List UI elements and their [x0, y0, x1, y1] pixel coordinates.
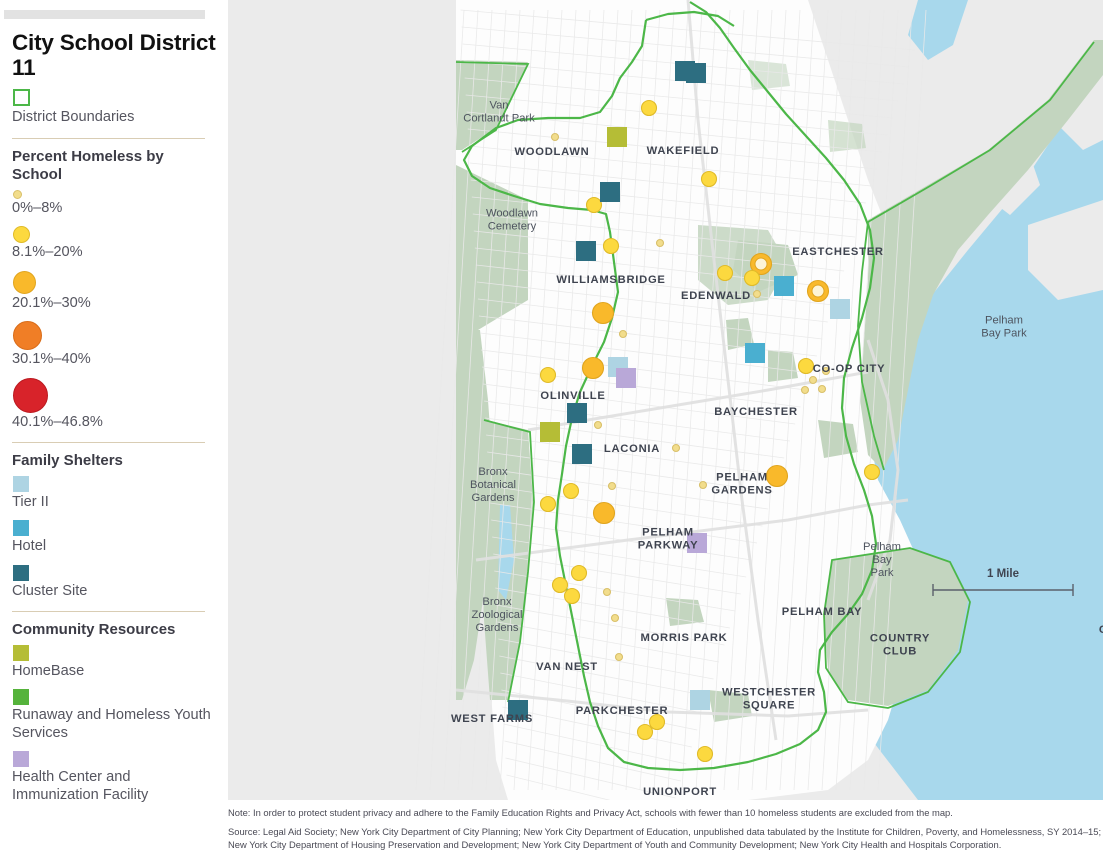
community-resources-list: HomeBaseRunaway and Homeless Youth Servi… [12, 645, 217, 805]
school-marker[interactable] [595, 422, 602, 429]
map-canvas[interactable]: WOODLAWNWAKEFIELDEASTCHESTERWILLIAMSBRID… [228, 0, 1103, 800]
legend-sidebar: City School District 11 District Boundar… [0, 0, 228, 855]
park-label: WoodlawnCemetery [486, 208, 538, 233]
school-marker[interactable] [541, 497, 556, 512]
legend-dot-0 [13, 190, 217, 199]
neighborhood-label: CO-OP CITY [813, 363, 886, 375]
shelter-marker-tier2[interactable] [690, 690, 710, 710]
school-marker[interactable] [718, 266, 733, 281]
school-marker[interactable] [594, 503, 615, 524]
family-shelter-swatch-0 [13, 476, 217, 492]
family-shelter-swatch-2 [13, 565, 217, 581]
shelter-marker-cluster[interactable] [572, 444, 592, 464]
school-marker[interactable] [802, 387, 809, 394]
legend-content: City School District 11 District Boundar… [12, 30, 217, 813]
school-marker[interactable] [700, 482, 707, 489]
school-marker[interactable] [865, 465, 880, 480]
school-marker[interactable] [587, 198, 602, 213]
square-icon [13, 751, 29, 767]
page-title: City School District 11 [12, 30, 217, 80]
divider [12, 442, 205, 443]
school-marker[interactable] [698, 747, 713, 762]
circle-icon [13, 321, 42, 350]
shelter-marker-hotel[interactable] [745, 343, 765, 363]
district-boundaries-label: District Boundaries [12, 109, 217, 127]
square-icon [13, 689, 29, 705]
school-marker[interactable] [604, 239, 619, 254]
shelter-marker-cluster[interactable] [600, 182, 620, 202]
neighborhood-label: PELHAMPARKWAY [638, 527, 699, 552]
community-resource-swatch-0 [13, 645, 217, 661]
divider [12, 138, 205, 139]
legend-dot-label: 20.1%–30% [12, 295, 217, 313]
neighborhood-label: VAN NEST [536, 661, 598, 673]
family-shelter-label: Cluster Site [12, 583, 217, 601]
privacy-note: Note: In order to protect student privac… [228, 806, 1103, 820]
school-marker[interactable] [553, 578, 568, 593]
square-icon [13, 645, 29, 661]
neighborhood-label: BAYCHESTER [714, 406, 798, 418]
shelter-marker-tier2[interactable] [830, 299, 850, 319]
neighborhood-label: EASTCHESTER [792, 246, 884, 258]
percent-homeless-list: 0%–8%8.1%–20%20.1%–30%30.1%–40%40.1%–46.… [12, 190, 217, 432]
circle-icon [13, 190, 22, 199]
neighborhood-label: CITY ISLAND [1099, 624, 1103, 636]
school-marker[interactable] [754, 291, 761, 298]
neighborhood-label: MORRIS PARK [641, 632, 728, 644]
community-resource-label: Runaway and Homeless Youth Services [12, 707, 217, 742]
school-marker[interactable] [565, 589, 580, 604]
community-resource-swatch-1 [13, 689, 217, 705]
shelter-marker-hotel[interactable] [774, 276, 794, 296]
school-marker[interactable] [583, 358, 604, 379]
shelter-marker-cluster[interactable] [567, 403, 587, 423]
legend-dot-1 [13, 226, 217, 243]
circle-icon [13, 271, 36, 294]
resource-marker-homebase[interactable] [607, 127, 627, 147]
school-marker[interactable] [638, 725, 653, 740]
family-shelter-label: Tier II [12, 494, 217, 512]
source-note: Source: Legal Aid Society; New York City… [228, 825, 1103, 852]
legend-dot-4 [13, 378, 217, 413]
neighborhood-label: WILLIAMSBRIDGE [556, 274, 665, 286]
school-marker[interactable] [609, 483, 616, 490]
neighborhood-label: WAKEFIELD [647, 145, 720, 157]
shelter-marker-cluster[interactable] [576, 241, 596, 261]
neighborhood-label: PELHAM BAY [782, 606, 862, 618]
school-marker[interactable] [572, 566, 587, 581]
square-icon [13, 565, 29, 581]
community-resources-heading: Community Resources [12, 621, 217, 640]
legend-dot-2 [13, 271, 217, 294]
school-marker[interactable] [745, 271, 760, 286]
school-marker[interactable] [612, 615, 619, 622]
map-footnotes: Note: In order to protect student privac… [228, 806, 1103, 852]
family-shelter-swatch-1 [13, 520, 217, 536]
map-page: City School District 11 District Boundar… [0, 0, 1103, 855]
park-label: PelhamBay Park [981, 315, 1027, 340]
school-marker[interactable] [616, 654, 623, 661]
neighborhood-label: WEST FARMS [451, 713, 533, 725]
neighborhood-label: LACONIA [604, 443, 660, 455]
school-marker[interactable] [767, 466, 788, 487]
community-resource-label: Health Center and Immunization Facility [12, 769, 217, 804]
school-marker[interactable] [819, 386, 826, 393]
family-shelters-heading: Family Shelters [12, 452, 217, 471]
map-svg: WOODLAWNWAKEFIELDEASTCHESTERWILLIAMSBRID… [228, 0, 1103, 800]
svg-text:1 Mile: 1 Mile [987, 568, 1019, 580]
legend-dot-3 [13, 321, 217, 350]
shelter-marker-cluster[interactable] [686, 63, 706, 83]
school-marker[interactable] [702, 172, 717, 187]
resource-marker-health[interactable] [616, 368, 636, 388]
circle-icon [13, 226, 30, 243]
percent-homeless-heading: Percent Homeless by School [12, 148, 217, 185]
school-marker[interactable] [657, 240, 664, 247]
community-resource-swatch-2 [13, 751, 217, 767]
school-marker[interactable] [552, 134, 559, 141]
school-marker[interactable] [808, 281, 829, 302]
school-marker[interactable] [810, 377, 817, 384]
neighborhood-label: OLINVILLE [540, 390, 605, 402]
community-resource-label: HomeBase [12, 663, 217, 681]
neighborhood-label: PELHAMGARDENS [711, 472, 772, 497]
square-outline-icon [13, 89, 30, 106]
neighborhood-label: EDENWALD [681, 290, 751, 302]
square-icon [13, 476, 29, 492]
school-marker[interactable] [799, 359, 814, 374]
school-marker[interactable] [620, 331, 627, 338]
family-shelter-label: Hotel [12, 538, 217, 556]
school-marker[interactable] [541, 368, 556, 383]
school-marker[interactable] [604, 589, 611, 596]
square-icon [13, 520, 29, 536]
legend-dot-label: 0%–8% [12, 200, 217, 218]
circle-icon [13, 378, 48, 413]
legend-district-boundaries: District Boundaries [12, 89, 217, 127]
legend-dot-label: 30.1%–40% [12, 351, 217, 369]
school-marker[interactable] [564, 484, 579, 499]
school-marker[interactable] [673, 445, 680, 452]
family-shelters-list: Tier IIHotelCluster Site [12, 476, 217, 601]
top-accent-bar [4, 10, 205, 19]
neighborhood-label: UNIONPORT [643, 786, 717, 798]
school-marker[interactable] [593, 303, 614, 324]
divider [12, 611, 205, 612]
legend-dot-label: 8.1%–20% [12, 244, 217, 262]
resource-marker-homebase[interactable] [540, 422, 560, 442]
legend-dot-label: 40.1%–46.8% [12, 414, 217, 432]
neighborhood-label: PARKCHESTER [576, 705, 669, 717]
school-marker[interactable] [642, 101, 657, 116]
neighborhood-label: WOODLAWN [515, 146, 590, 158]
